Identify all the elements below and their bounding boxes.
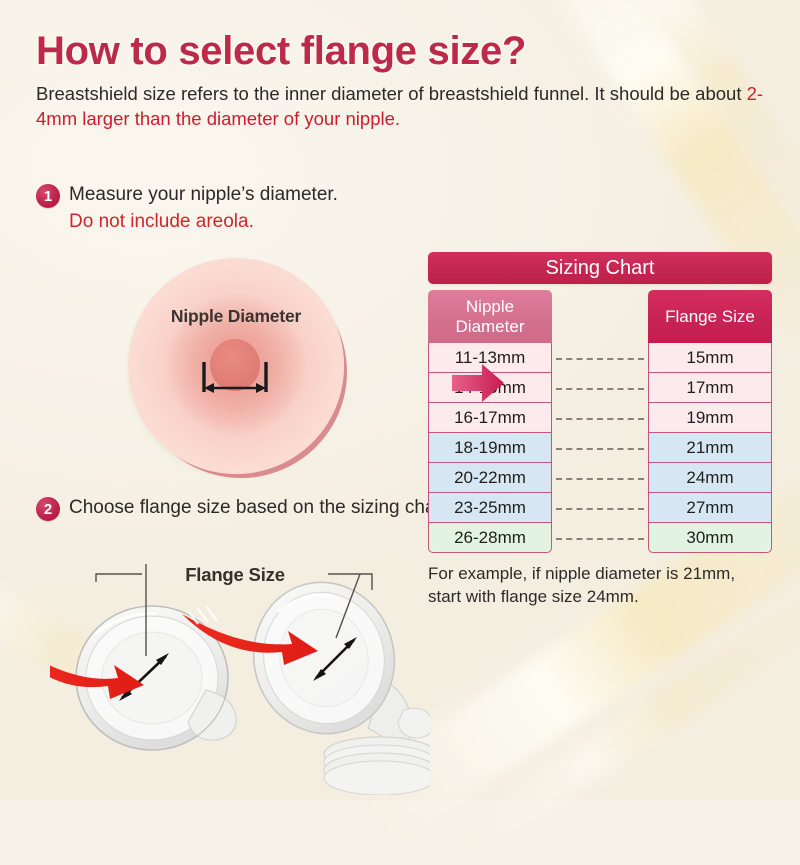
column-header-flange-size: Flange Size [648,290,772,343]
double-headed-arrow-icon [200,362,272,402]
table-row: 17mm [648,373,772,403]
sizing-chart-note: For example, if nipple diameter is 21mm,… [428,562,772,608]
header: How to select flange size? Breastshield … [36,30,766,132]
table-row: 18-19mm [428,433,552,463]
flange-size-label: Flange Size [145,564,325,586]
step-1-warning: Do not include areola. [69,209,338,236]
connector-dash [556,508,644,510]
connector-dash [556,538,644,540]
sizing-chart-title: Sizing Chart [428,252,772,284]
column-header-nipple-diameter: Nipple Diameter [428,290,552,343]
table-row: 16-17mm [428,403,552,433]
connector-dash [556,358,644,360]
step-1-text: Measure your nipple’s diameter. Do not i… [69,182,338,235]
flange-illustration: Flange Size [50,560,430,795]
step-1-line: Measure your nipple’s diameter. [69,184,338,205]
column-flange-size: Flange Size 15mm17mm19mm21mm24mm27mm30mm [648,290,772,553]
table-row: 21mm [648,433,772,463]
step-1-badge: 1 [36,184,60,208]
page-title: How to select flange size? [36,30,766,73]
step-2-badge: 2 [36,497,60,521]
connector-dash [556,418,644,420]
table-row: 27mm [648,493,772,523]
step-2-line: Choose flange size based on the sizing c… [69,497,452,518]
page-subtitle: Breastshield size refers to the inner di… [36,82,766,132]
step-1: 1 Measure your nipple’s diameter. Do not… [36,182,338,235]
nipple-diameter-label: Nipple Diameter [136,306,336,327]
flange-funnels-graphic [50,560,430,795]
table-row: 20-22mm [428,463,552,493]
sizing-chart: Sizing Chart Nipple Diameter 11-13mm14-1… [428,252,772,608]
table-row: 24mm [648,463,772,493]
breast-diagram: Nipple Diameter [128,258,353,480]
connector-dash [556,448,644,450]
sizing-chart-body: Nipple Diameter 11-13mm14-15mm16-17mm18-… [428,290,772,553]
connector-dash [556,388,644,390]
connector-dashes [552,343,648,553]
right-arrow-icon [450,362,506,404]
step-2-text: Choose flange size based on the sizing c… [69,495,452,522]
column-cells-flange-size: 15mm17mm19mm21mm24mm27mm30mm [648,343,772,553]
table-row: 15mm [648,343,772,373]
table-row: 23-25mm [428,493,552,523]
subtitle-text: Breastshield size refers to the inner di… [36,83,747,104]
funnel-left [50,564,236,750]
column-nipple-diameter: Nipple Diameter 11-13mm14-15mm16-17mm18-… [428,290,552,553]
step-2: 2 Choose flange size based on the sizing… [36,495,452,522]
bottle-threads [324,737,430,795]
table-row: 26-28mm [428,523,552,553]
connector-dash [556,478,644,480]
table-row: 30mm [648,523,772,553]
table-row: 19mm [648,403,772,433]
